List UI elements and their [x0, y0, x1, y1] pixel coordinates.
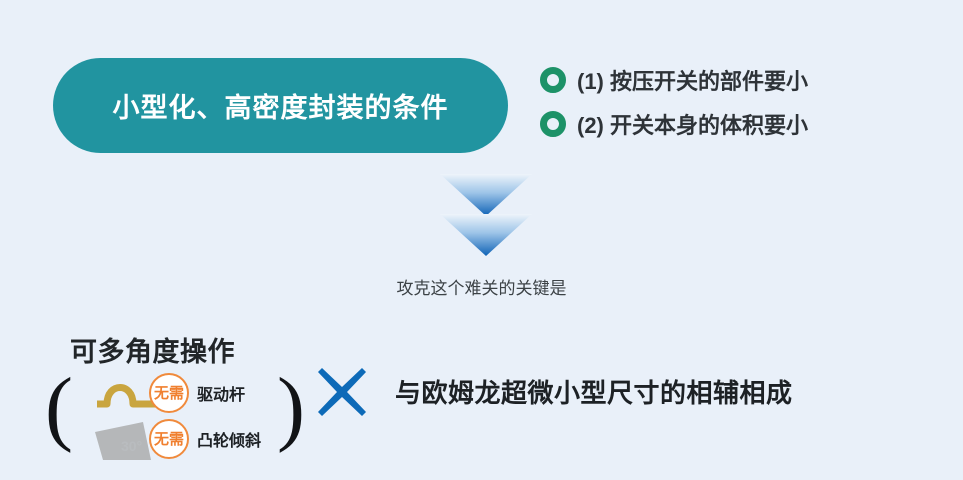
feature-cam-tilt: 30° 无需 凸轮倾斜: [95, 418, 261, 460]
condition-item-text: (1) 按压开关的部件要小: [577, 64, 808, 96]
list-item: (1) 按压开关的部件要小: [540, 58, 950, 102]
no-need-badge: 无需: [149, 419, 189, 459]
no-need-badge-text: 无需: [154, 432, 184, 447]
ring-icon: [540, 111, 566, 137]
list-item: (2) 开关本身的体积要小: [540, 102, 950, 146]
feature-label-lever: 驱动杆: [197, 381, 245, 405]
down-arrow-icon: [440, 214, 532, 256]
combine-statement: 与欧姆龙超微小型尺寸的相辅相成: [395, 373, 793, 410]
flow-caption: 攻克这个难关的关键是: [0, 274, 963, 299]
no-need-badge: 无需: [149, 373, 189, 413]
multi-angle-block: 可多角度操作 ( ) 无需 驱动杆 30° 无需: [45, 330, 310, 478]
wedge-angle-label: 30°: [121, 438, 142, 454]
times-operator-icon: [316, 366, 368, 418]
multi-angle-title: 可多角度操作: [70, 330, 235, 369]
paren-left: (: [45, 366, 73, 450]
paren-right: ): [277, 366, 305, 450]
down-arrow-icon: [440, 174, 532, 216]
ring-icon: [540, 67, 566, 93]
condition-pill: 小型化、高密度封装的条件: [53, 58, 508, 153]
condition-pill-label: 小型化、高密度封装的条件: [113, 86, 449, 125]
condition-item-text: (2) 开关本身的体积要小: [577, 108, 808, 140]
slide-canvas: 小型化、高密度封装的条件 (1) 按压开关的部件要小 (2) 开关本身的体积要小: [0, 0, 963, 480]
no-need-badge-text: 无需: [154, 386, 184, 401]
feature-label-cam-tilt: 凸轮倾斜: [197, 427, 261, 451]
condition-list: (1) 按压开关的部件要小 (2) 开关本身的体积要小: [540, 58, 950, 146]
feature-lever: 无需 驱动杆: [95, 372, 245, 414]
